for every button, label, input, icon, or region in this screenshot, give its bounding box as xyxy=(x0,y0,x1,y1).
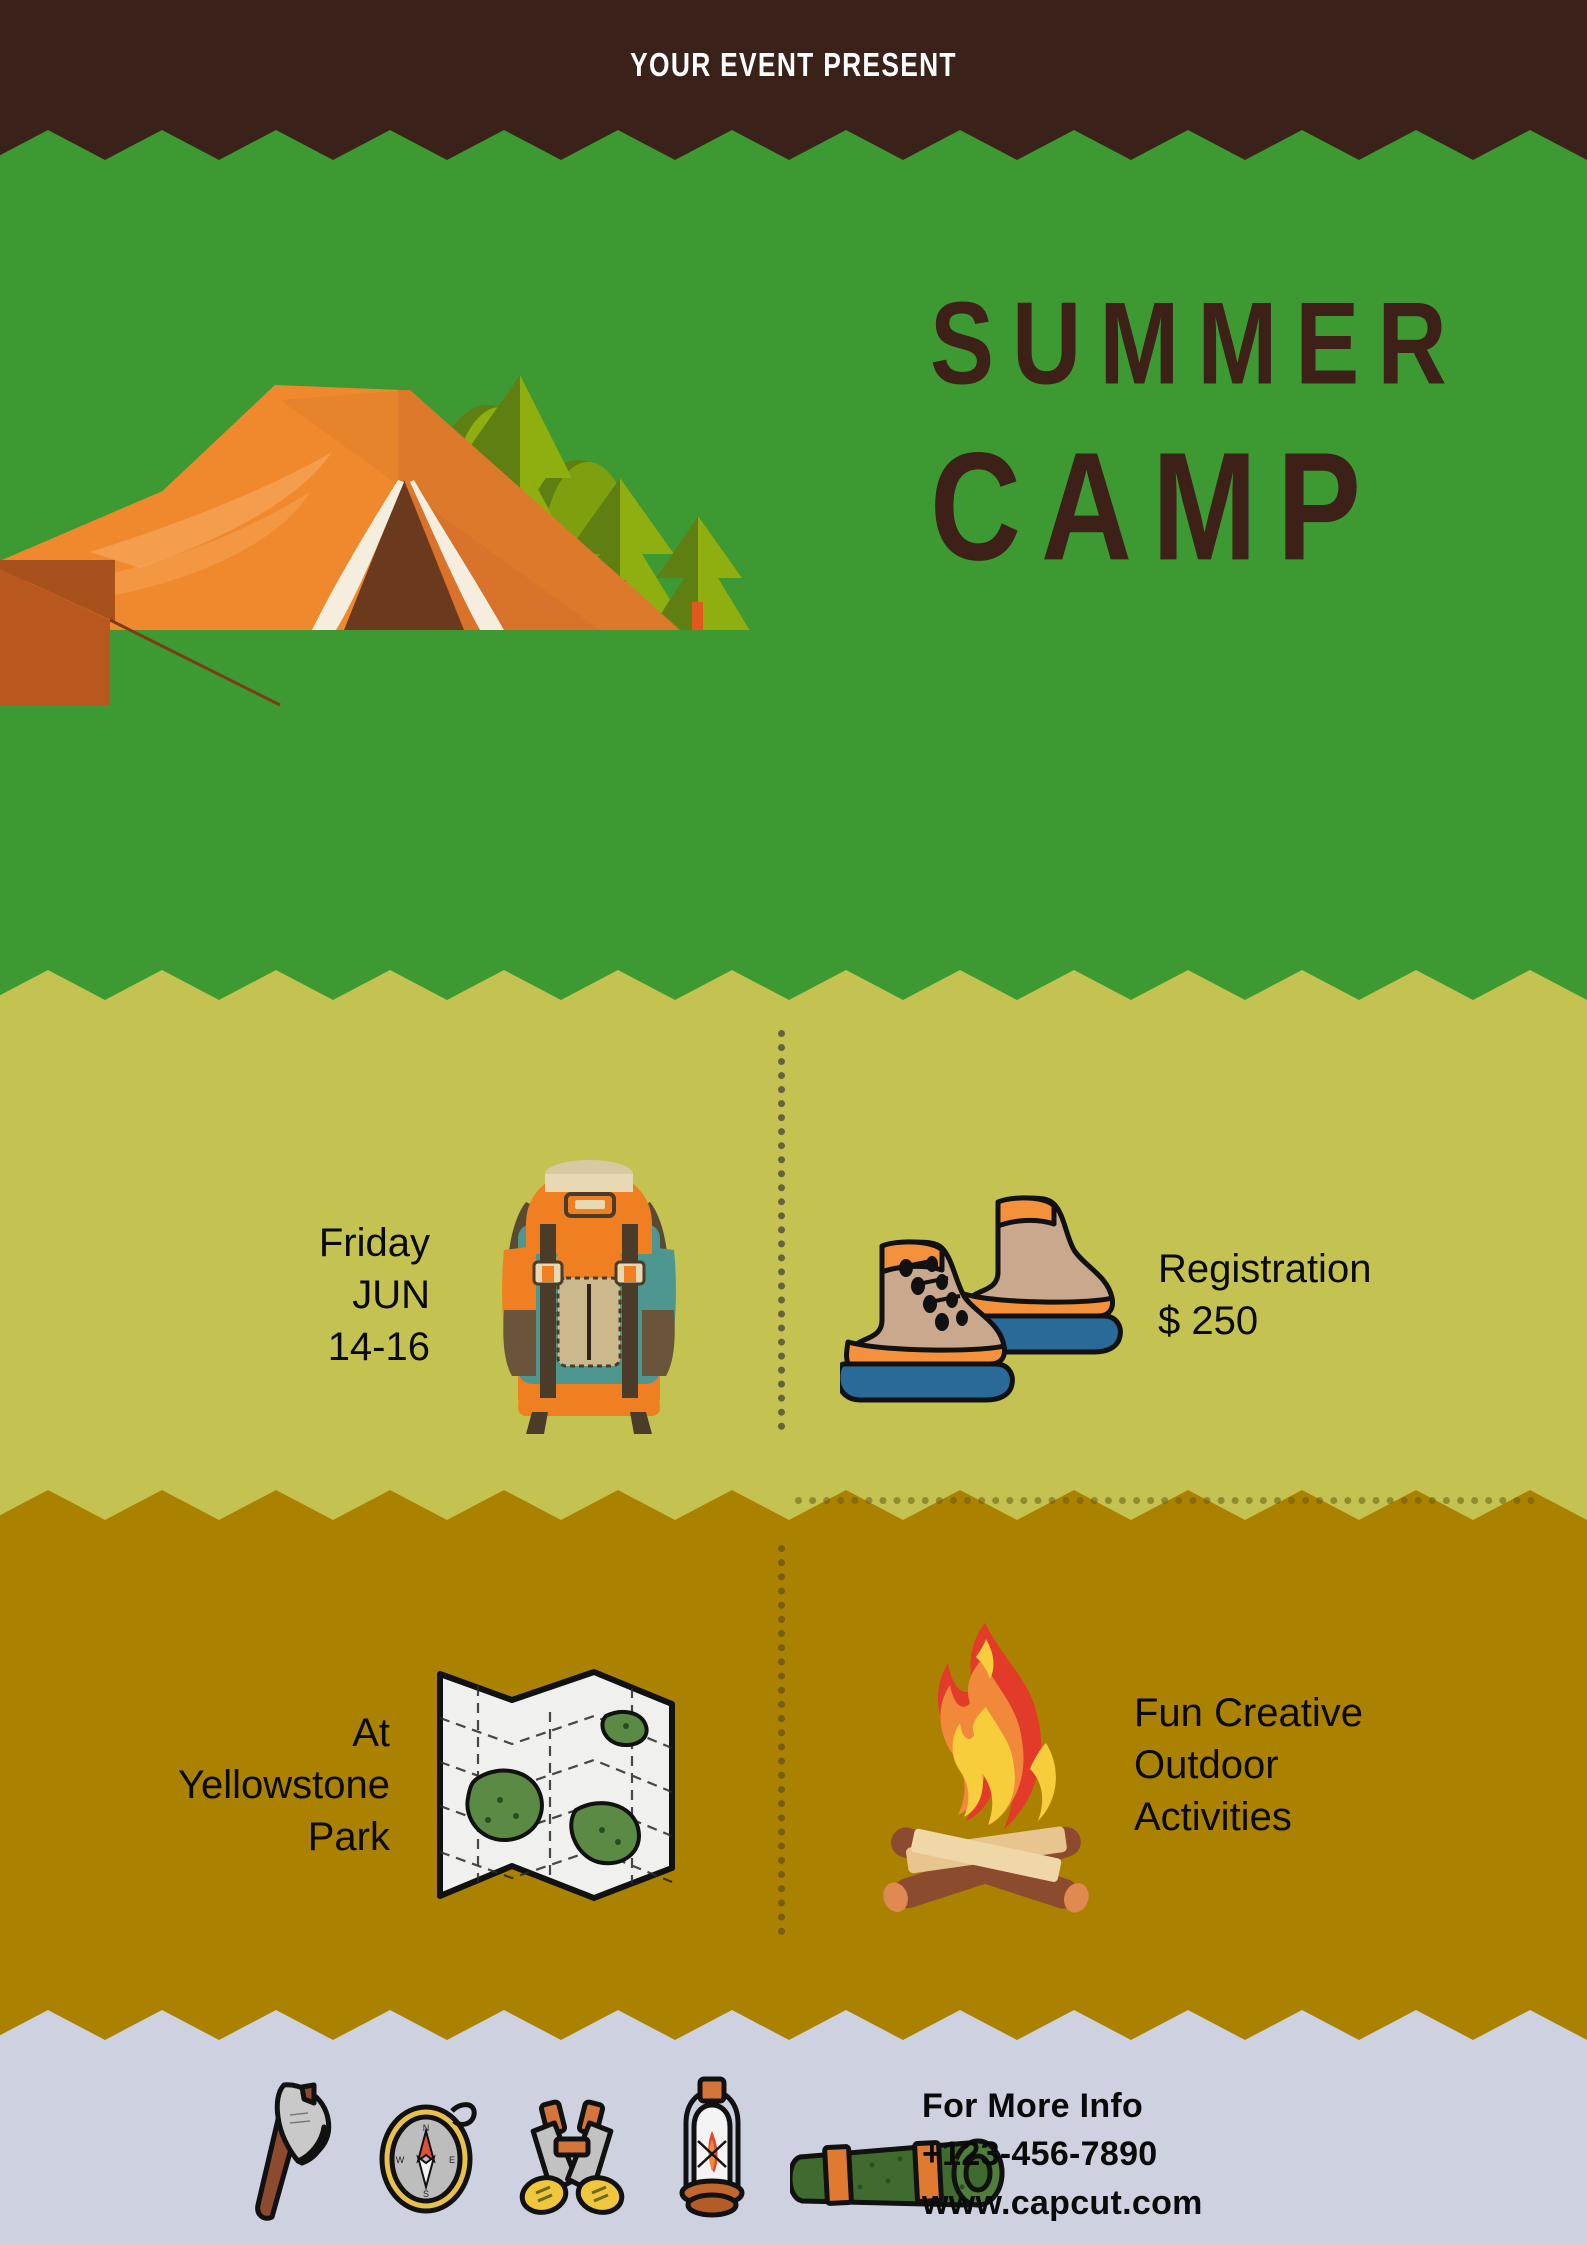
detail-registration-line2: $ 250 xyxy=(1158,1295,1371,1347)
axe-icon xyxy=(240,2075,352,2225)
svg-text:N: N xyxy=(423,2123,430,2133)
footer-phone[interactable]: +123-456-7890 xyxy=(922,2130,1203,2178)
detail-date-line2: JUN xyxy=(130,1269,430,1321)
poster-headline: SUMMER CAMP xyxy=(930,286,1570,556)
folded-map-icon xyxy=(426,1660,686,1910)
binoculars-icon xyxy=(506,2075,636,2225)
detail-registration: Registration $ 250 xyxy=(840,1150,1540,1440)
detail-location-line1: At xyxy=(40,1707,390,1759)
divider-horizontal xyxy=(795,1497,1535,1504)
compass-icon: NS WE xyxy=(374,2075,484,2225)
backpack-icon xyxy=(474,1150,704,1440)
detail-location-line3: Park xyxy=(40,1811,390,1863)
tree-conifer-3 xyxy=(648,516,752,630)
detail-location: At Yellowstone Park xyxy=(40,1640,750,1930)
poster-canvas: YOUR EVENT PRESENT xyxy=(0,0,1587,2245)
divider-olive-vertical xyxy=(778,1030,785,1430)
detail-date-line3: 14-16 xyxy=(130,1321,430,1373)
tent-ground-shadow xyxy=(0,560,540,740)
detail-date-text: Friday JUN 14-16 xyxy=(130,1217,430,1373)
lantern-icon xyxy=(658,2075,768,2225)
detail-activities-text: Fun Creative Outdoor Activities xyxy=(1134,1687,1363,1843)
footer-website[interactable]: www.capcut.com xyxy=(922,2179,1203,2227)
hiking-boots-icon xyxy=(840,1180,1130,1410)
detail-location-line2: Yellowstone xyxy=(40,1759,390,1811)
detail-activities-line1: Fun Creative xyxy=(1134,1687,1363,1739)
headline-line-1: SUMMER xyxy=(930,286,1570,403)
svg-text:W: W xyxy=(396,2155,405,2165)
campfire-logs xyxy=(880,1823,1093,1915)
detail-registration-text: Registration $ 250 xyxy=(1158,1243,1371,1347)
headline-line-2: CAMP xyxy=(930,430,1570,584)
detail-activities-line2: Outdoor xyxy=(1134,1739,1363,1791)
detail-activities-line3: Activities xyxy=(1134,1791,1363,1843)
detail-date-line1: Friday xyxy=(130,1217,430,1269)
detail-location-text: At Yellowstone Park xyxy=(40,1707,390,1863)
footer-contact: For More Info +123-456-7890 www.capcut.c… xyxy=(922,2082,1203,2227)
footer-info-label: For More Info xyxy=(922,2082,1203,2130)
footer-icon-row: NS WE xyxy=(240,2075,1010,2225)
divider-gold-vertical xyxy=(778,1545,785,1935)
svg-text:S: S xyxy=(423,2189,429,2199)
page-title: YOUR EVENT PRESENT xyxy=(159,46,1429,84)
detail-date: Friday JUN 14-16 xyxy=(130,1150,750,1440)
svg-text:E: E xyxy=(449,2155,455,2165)
campfire-icon xyxy=(870,1615,1100,1915)
detail-registration-line1: Registration xyxy=(1158,1243,1371,1295)
detail-activities: Fun Creative Outdoor Activities xyxy=(870,1600,1570,1930)
